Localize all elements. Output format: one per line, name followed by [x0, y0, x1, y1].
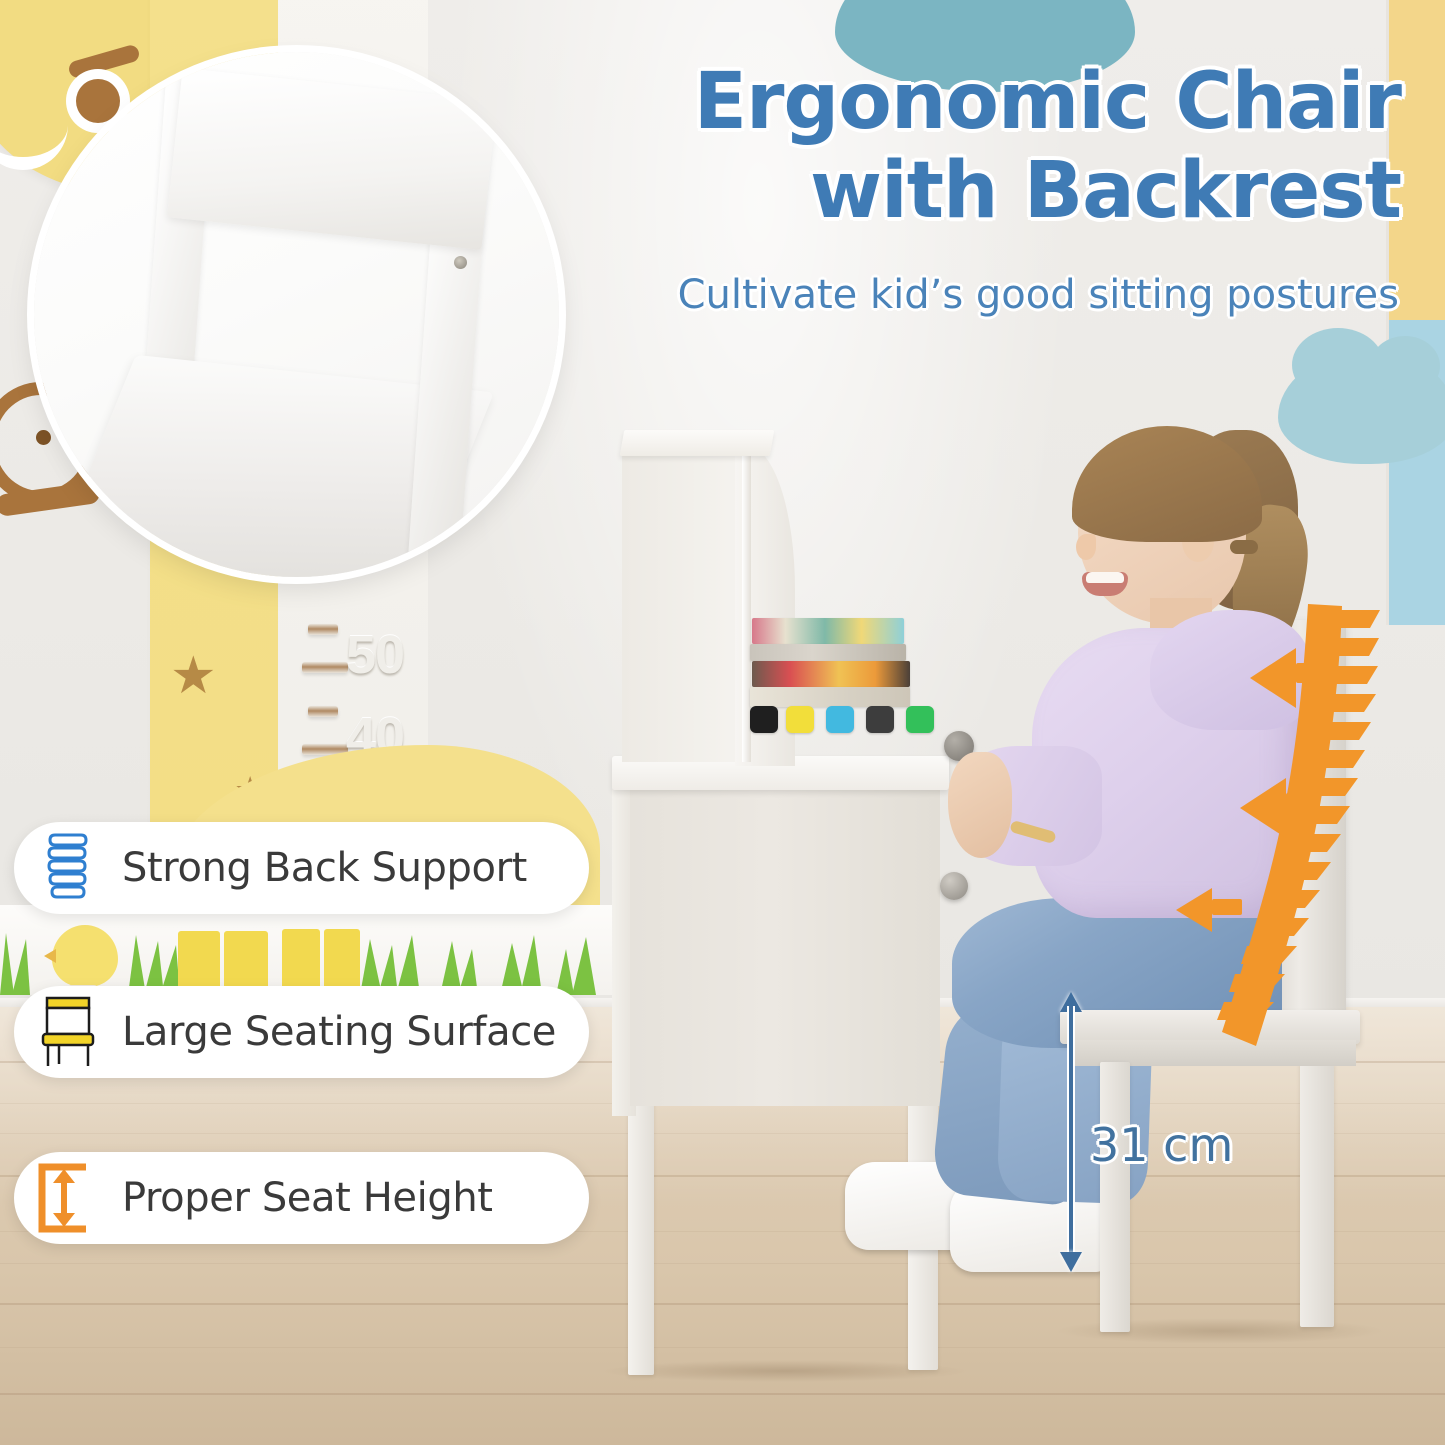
giraffe-eye — [76, 79, 120, 123]
desk-hutch-top — [620, 430, 775, 456]
desk-body — [630, 786, 940, 1106]
hand — [948, 752, 1012, 858]
measure-label: 31 cm — [1090, 1118, 1233, 1172]
marker — [826, 706, 854, 733]
teeth — [1086, 572, 1124, 583]
spine-icon — [14, 831, 122, 905]
feature-label: Large Seating Surface — [122, 1009, 556, 1055]
feature-pill-seat-height[interactable]: Proper Seat Height — [14, 1152, 589, 1244]
pressure-arrow-lower — [1176, 888, 1212, 932]
pressure-arrow-tail — [1286, 793, 1320, 813]
nose — [1076, 534, 1096, 560]
headline-line-2: with Backrest — [601, 147, 1401, 236]
giraffe-smile — [0, 101, 68, 170]
marker — [750, 706, 778, 733]
subtitle: Cultivate kid’s good sitting postures — [579, 272, 1399, 318]
height-tick — [302, 662, 348, 673]
grass-border-decal — [0, 905, 640, 995]
book — [750, 687, 910, 707]
marker — [906, 706, 934, 733]
floor-grain — [0, 1347, 1445, 1348]
chair-leg — [1300, 1062, 1334, 1327]
chick-beak — [44, 949, 56, 963]
desk-leg — [628, 1100, 654, 1375]
height-tick — [308, 624, 338, 635]
chair-backrest-closeup-inset — [34, 52, 559, 577]
pressure-arrow-tail — [1212, 899, 1242, 915]
pressure-arrow-middle — [1240, 778, 1286, 838]
marker — [866, 706, 894, 733]
feature-label: Strong Back Support — [122, 845, 527, 891]
height-tick — [308, 706, 338, 717]
measure-line — [1069, 1006, 1073, 1258]
seat-height-icon — [14, 1163, 122, 1233]
headline-line-1: Ergonomic Chair — [601, 58, 1401, 147]
hair-tie — [1230, 540, 1258, 554]
page-title: Ergonomic Chair with Backrest — [601, 58, 1401, 236]
pressure-arrow-upper — [1250, 648, 1296, 708]
height-mark-50: 50 — [346, 624, 404, 686]
screw-icon — [454, 256, 467, 269]
spine-icon-glyph — [41, 831, 95, 905]
book — [750, 644, 906, 661]
marker — [786, 706, 814, 733]
measure-arrow-down — [1060, 1252, 1082, 1272]
desk-drawer-knob[interactable] — [940, 872, 968, 900]
seat-height-measure — [1060, 992, 1082, 1272]
chick-decal — [52, 925, 118, 987]
seat-height-icon-glyph — [34, 1163, 102, 1233]
chair-icon-glyph — [37, 994, 99, 1070]
feature-pill-seating-surface[interactable]: Large Seating Surface — [14, 986, 589, 1078]
floor-plank-seam — [0, 1393, 1445, 1395]
chair-leg — [1100, 1062, 1130, 1332]
chair-backrest-slat — [167, 68, 497, 250]
pressure-arrow-tail — [1296, 663, 1336, 683]
product-marketing-image: ★ ★ ★ 50 40 — [0, 0, 1445, 1445]
feature-label: Proper Seat Height — [122, 1175, 493, 1221]
monkey-eye — [36, 430, 51, 445]
desk-hutch-panel — [622, 452, 742, 762]
floor-plank-seam — [0, 1303, 1445, 1305]
cloud-decal-right — [1278, 352, 1445, 464]
book — [752, 661, 910, 687]
chair-icon — [14, 994, 122, 1070]
star-decal: ★ — [170, 650, 217, 702]
feature-pill-back-support[interactable]: Strong Back Support — [14, 822, 589, 914]
floor-grain — [0, 1263, 1445, 1264]
book — [752, 618, 904, 644]
